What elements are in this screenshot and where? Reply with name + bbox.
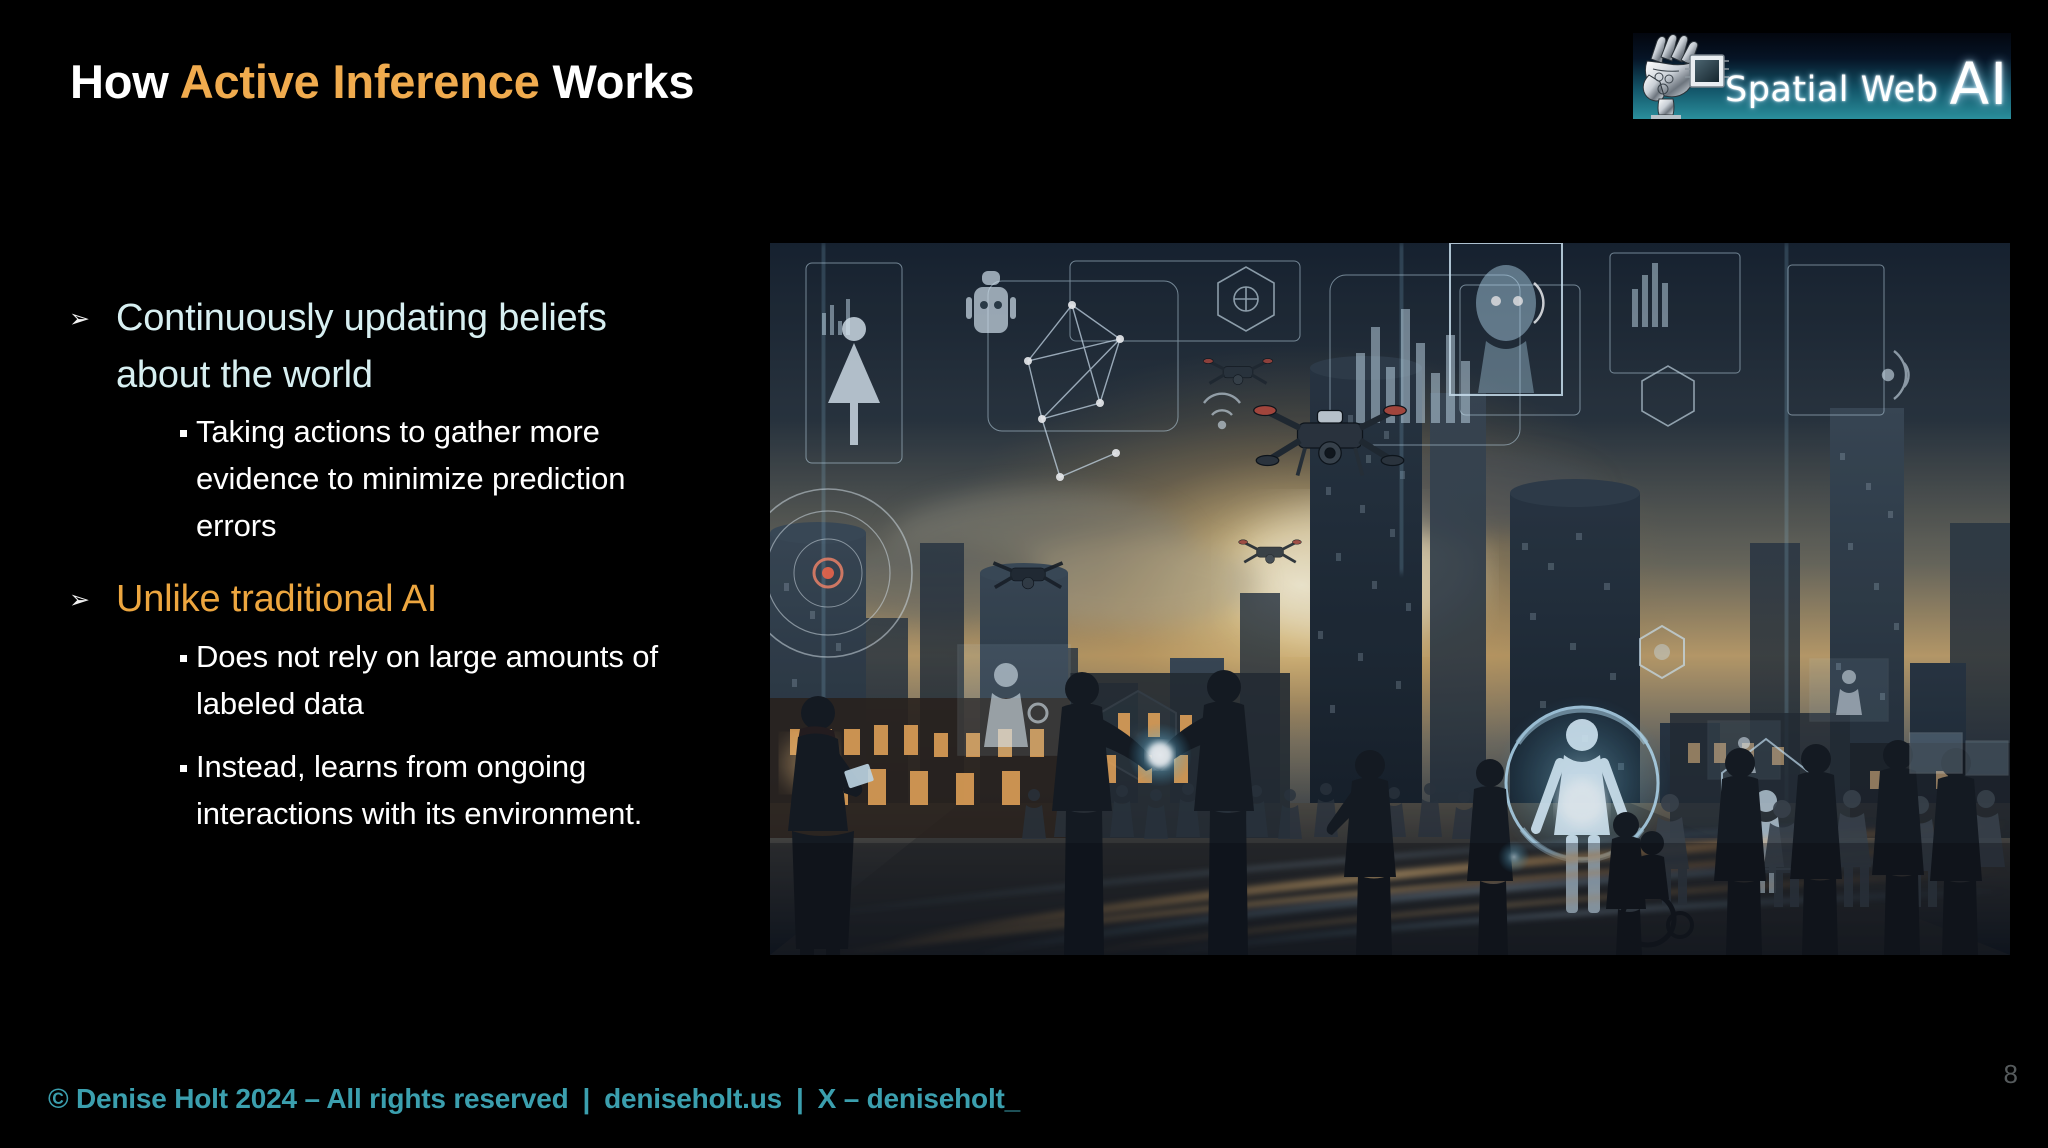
hero-image [770, 243, 2010, 955]
title-part-1: How [70, 55, 180, 108]
bullet-list: ➢ Continuously updating beliefs about th… [60, 290, 760, 837]
page-title: How Active Inference Works [70, 54, 694, 109]
bullet-item-primary: ➢ Continuously updating beliefs about th… [60, 290, 760, 404]
title-highlight: Active Inference [180, 55, 540, 108]
square-bullet-icon [138, 633, 196, 727]
social-handle[interactable]: X – deniseholt_ [818, 1083, 1020, 1114]
spacer [138, 727, 760, 741]
bullet-text: Continuously updating beliefs about the … [116, 290, 656, 404]
website-link[interactable]: deniseholt.us [604, 1083, 782, 1114]
copyright-text: © Denise Holt 2024 – All rights reserved [48, 1083, 568, 1114]
sub-bullet-item: Taking actions to gather more evidence t… [138, 408, 760, 549]
footer-separator: | [568, 1083, 604, 1114]
logo-ai: AI [1949, 59, 2008, 110]
sub-bullet-text: Instead, learns from ongoing interaction… [196, 743, 666, 837]
spacer [60, 549, 760, 571]
sub-bullet-item: Does not rely on large amounts of labele… [138, 633, 760, 727]
bullet-text: Unlike traditional AI [116, 571, 437, 629]
bullet-item-primary: ➢ Unlike traditional AI [60, 571, 760, 629]
square-bullet-icon [138, 743, 196, 837]
footer: © Denise Holt 2024 – All rights reserved… [48, 1083, 1020, 1115]
brand-logo[interactable]: Spatial Web AI [1633, 33, 2011, 119]
page-number: 8 [2004, 1059, 2018, 1090]
square-bullet-icon [138, 408, 196, 549]
title-part-2: Works [540, 55, 695, 108]
arrow-bullet-icon: ➢ [60, 571, 116, 629]
sub-bullet-item: Instead, learns from ongoing interaction… [138, 743, 760, 837]
sub-bullet-text: Does not rely on large amounts of labele… [196, 633, 666, 727]
sub-bullet-group: Taking actions to gather more evidence t… [60, 408, 760, 549]
sub-bullet-group: Does not rely on large amounts of labele… [60, 633, 760, 837]
arrow-bullet-icon: ➢ [60, 290, 116, 404]
logo-name: Spatial Web [1725, 70, 1938, 110]
robotic-hand-icon [1637, 33, 1733, 119]
logo-wordmark: Spatial Web AI [1725, 33, 2011, 119]
sub-bullet-text: Taking actions to gather more evidence t… [196, 408, 666, 549]
footer-separator: | [782, 1083, 818, 1114]
